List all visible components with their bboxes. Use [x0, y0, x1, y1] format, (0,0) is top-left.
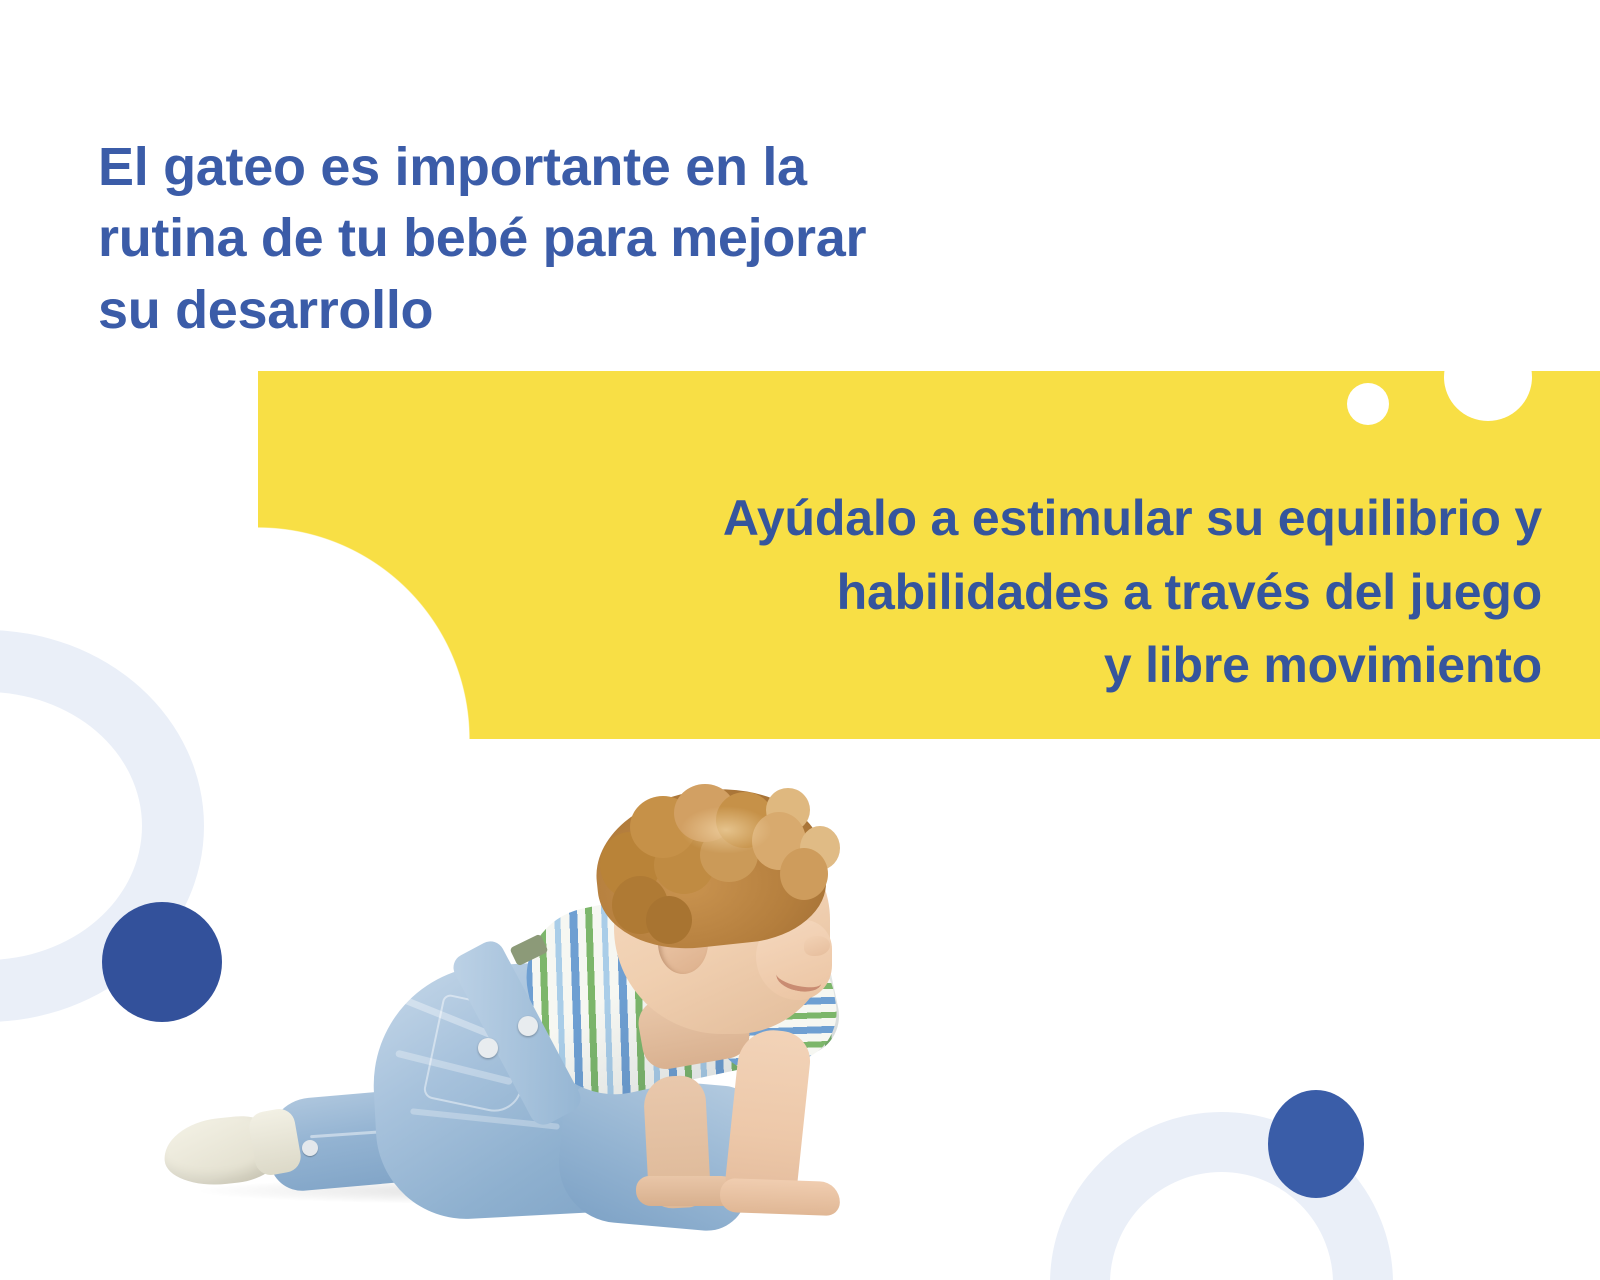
banner-subtitle: Ayúdalo a estimular su equilibrio y habi… [258, 482, 1542, 703]
overall-button [518, 1016, 538, 1036]
page-title: El gateo es importante en la rutina de t… [98, 132, 1098, 346]
overall-button [478, 1038, 498, 1058]
light-blue-ring-bottom-right-icon [1050, 1112, 1393, 1280]
poster-canvas: El gateo es importante en la rutina de t… [0, 0, 1600, 1280]
hair-highlight [680, 806, 772, 854]
baby-front-hand [719, 1178, 840, 1216]
hair-curl [646, 896, 692, 944]
denim-button [302, 1140, 318, 1156]
baby-crawling-photo [160, 780, 840, 1220]
hair-curl [780, 848, 828, 900]
blue-dot-bottom-right-icon [1268, 1090, 1364, 1198]
